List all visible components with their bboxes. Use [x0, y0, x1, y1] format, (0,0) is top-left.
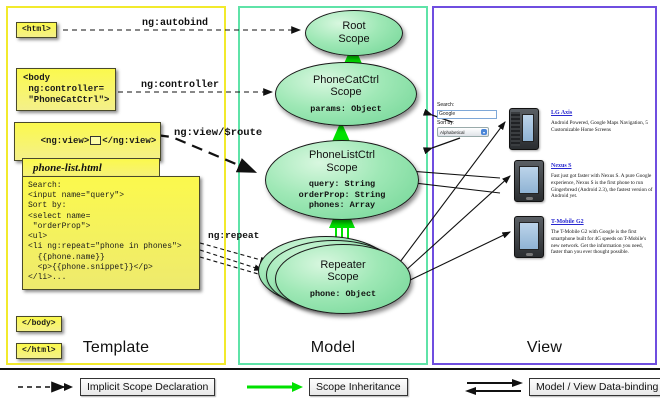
phone-name-link[interactable]: LG Axis: [551, 110, 655, 117]
phone-list-note-code: Search: <input name="query"> Sort by: <s…: [22, 176, 200, 290]
phone-thumbnail: [514, 216, 544, 258]
search-input[interactable]: Google: [437, 110, 497, 119]
sort-select-value: Alphabetical: [440, 130, 465, 135]
scope-phonelistctrl-title: PhoneListCtrl Scope: [309, 149, 375, 174]
legend-label-implicit-scope: Implicit Scope Declaration: [80, 378, 215, 396]
legend-item-data-binding: Model / View Data-binding: [465, 378, 660, 396]
phone-snippet: The T-Mobile G2 with Google is the first…: [551, 229, 655, 256]
diagram-root: Template Model View: [0, 0, 660, 405]
phone-thumbnail: [509, 108, 539, 150]
scope-root-title: Root Scope: [338, 20, 369, 45]
scope-phonecatctrl: PhoneCatCtrl Scope params: Object: [275, 62, 417, 126]
double-arrow-icon: [465, 379, 523, 395]
ngview-open-tag: <ng:view>: [41, 136, 90, 146]
dashed-arrow-icon: [16, 381, 74, 393]
legend-item-scope-inheritance: Scope Inheritance: [245, 378, 408, 396]
phone-list-note-title: phone-list.html: [22, 158, 160, 176]
code-html-open: <html>: [16, 22, 57, 38]
label-ng-view-route: ng:view/$route: [174, 127, 262, 139]
phone-home-button-art: [526, 197, 533, 200]
code-body-open: <body ng:controller= "PhoneCatCtrl">: [16, 68, 116, 111]
phone-name-link[interactable]: Nexus S: [551, 163, 655, 170]
code-body-close: </body>: [16, 316, 62, 332]
scope-repeater-title: Repeater Scope: [320, 259, 365, 284]
search-label: Search:: [437, 103, 497, 109]
legend-label-scope-inheritance: Scope Inheritance: [309, 378, 408, 396]
label-ng-controller: ng:controller: [141, 80, 219, 91]
phone-snippet: Fast just got faster with Nexus S. A pur…: [551, 173, 655, 200]
phone-list-item: T-Mobile G2 The T-Mobile G2 with Google …: [551, 219, 655, 256]
legend-label-data-binding: Model / View Data-binding: [529, 378, 660, 396]
scope-root: Root Scope: [305, 10, 403, 56]
phone-list-note: phone-list.html Search: <input name="que…: [22, 158, 200, 290]
scope-phonecatctrl-props: params: Object: [310, 104, 381, 115]
chevron-down-icon: ▾: [481, 129, 487, 135]
scope-phonecatctrl-title: PhoneCatCtrl Scope: [313, 74, 379, 99]
legend-item-implicit-scope: Implicit Scope Declaration: [16, 378, 215, 396]
view-search-form: Search: Google Sort by: Alphabetical ▾: [437, 103, 497, 137]
phone-screen-art: [519, 222, 539, 250]
phone-thumbnail: [514, 160, 544, 202]
phone-list-item: Nexus S Fast just got faster with Nexus …: [551, 163, 655, 200]
phone-name-link[interactable]: T-Mobile G2: [551, 219, 655, 226]
code-ngview: <ng:view></ng:view>: [14, 122, 161, 161]
sort-select[interactable]: Alphabetical ▾: [437, 127, 489, 137]
panel-view-label: View: [434, 339, 655, 357]
phone-screen-art: [519, 166, 539, 194]
ngview-slot-icon: [90, 136, 101, 145]
ngview-close-tag: </ng:view>: [102, 136, 156, 146]
phone-home-button-art: [526, 253, 533, 256]
legend: Implicit Scope Declaration Scope Inherit…: [0, 368, 660, 407]
phone-list-item: LG Axis Android Powered, Google Maps Nav…: [551, 110, 655, 134]
scope-phonelistctrl: PhoneListCtrl Scope query: String orderP…: [265, 140, 419, 220]
panel-model-label: Model: [240, 339, 426, 357]
phone-snippet: Android Powered, Google Maps Navigation,…: [551, 120, 655, 133]
scope-phonelistctrl-props: query: String orderProp: String phones: …: [299, 179, 386, 211]
code-html-close: </html>: [16, 343, 62, 359]
phone-keyboard-art: [511, 112, 520, 146]
phone-screen-art: [522, 114, 534, 142]
sort-label: Sort by:: [437, 121, 497, 127]
scope-repeater: Repeater Scope phone: Object: [275, 244, 411, 314]
green-arrow-icon: [245, 381, 303, 393]
scope-repeater-props: phone: Object: [310, 289, 376, 300]
label-ng-repeat: ng:repeat: [208, 230, 259, 241]
label-ng-autobind: ng:autobind: [142, 18, 208, 29]
